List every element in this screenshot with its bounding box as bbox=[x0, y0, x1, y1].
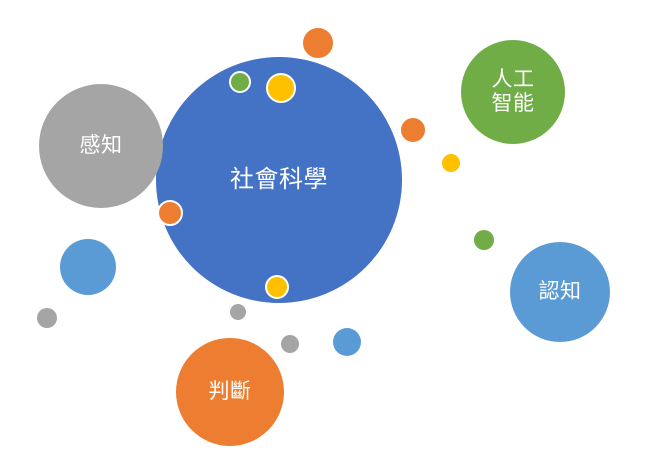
accent-orange-right-edge-dot[interactable] bbox=[399, 116, 427, 144]
cognition-bubble[interactable]: 認知 bbox=[510, 242, 610, 342]
cognition-label: 認知 bbox=[539, 280, 582, 304]
perception-bubble[interactable]: 感知 bbox=[39, 84, 163, 208]
accent-gray-far-left-dot[interactable] bbox=[37, 308, 57, 328]
accent-yellow-inner-top-dot[interactable] bbox=[266, 73, 296, 103]
accent-green-right-dot[interactable] bbox=[474, 230, 494, 250]
accent-lightblue-left-dot[interactable] bbox=[60, 239, 116, 295]
accent-gray-inner-bot-dot[interactable] bbox=[228, 302, 248, 322]
bubble-diagram-canvas: 社會科學感知人工 智能認知判斷 bbox=[0, 0, 657, 473]
accent-gray-below-dot[interactable] bbox=[281, 335, 299, 353]
social-science-label: 社會科學 bbox=[230, 167, 328, 194]
perception-label: 感知 bbox=[80, 134, 123, 158]
accent-yellow-right-dot[interactable] bbox=[442, 154, 460, 172]
accent-yellow-inner-bot-dot[interactable] bbox=[265, 275, 289, 299]
accent-green-inner-dot[interactable] bbox=[229, 71, 251, 93]
artificial-intelligence-label: 人工 智能 bbox=[492, 68, 535, 115]
judgment-label: 判斷 bbox=[209, 380, 252, 404]
accent-lightblue-below-dot[interactable] bbox=[333, 328, 361, 356]
artificial-intelligence-bubble[interactable]: 人工 智能 bbox=[461, 40, 565, 144]
judgment-bubble[interactable]: 判斷 bbox=[176, 338, 284, 446]
accent-orange-top-dot[interactable] bbox=[301, 26, 335, 60]
accent-orange-left-edge-dot[interactable] bbox=[157, 200, 183, 226]
